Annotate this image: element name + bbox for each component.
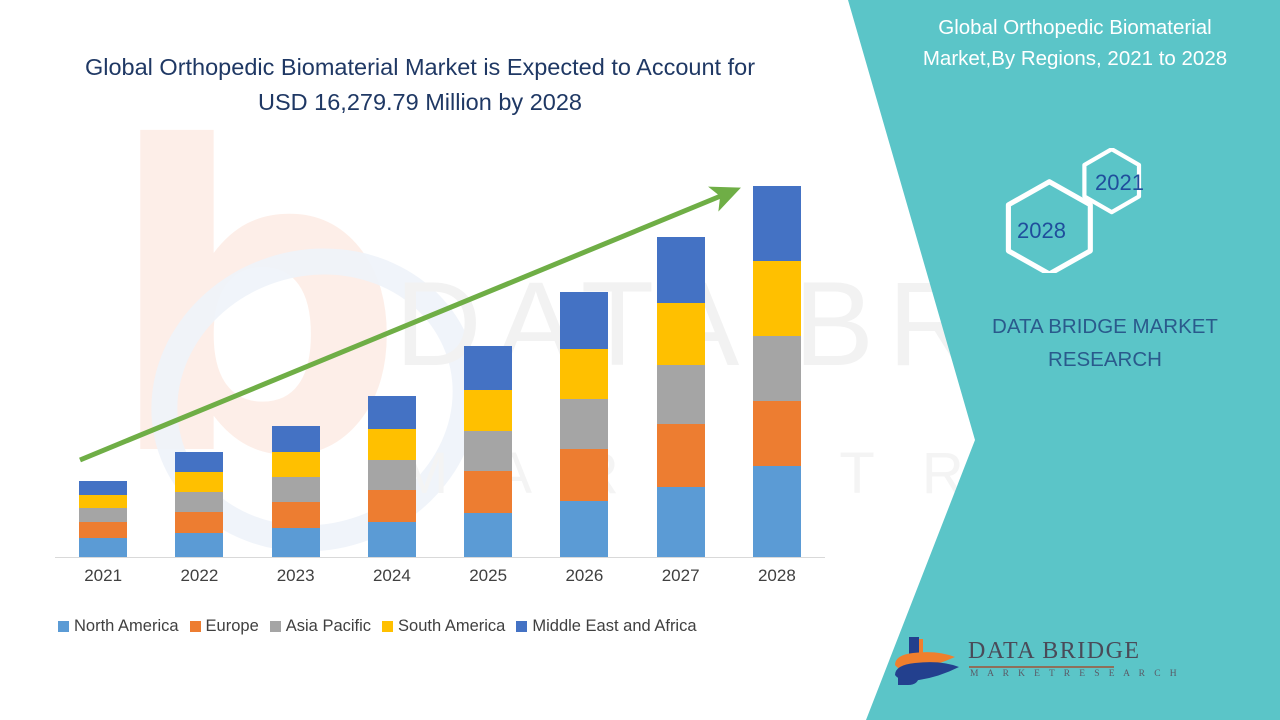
bar-segment-europe (657, 424, 705, 487)
x-label-2025: 2025 (448, 566, 528, 586)
bar-segment-asia-pacific (753, 336, 801, 401)
bar-segment-middle-east-and-africa (175, 452, 223, 472)
x-label-2024: 2024 (352, 566, 432, 586)
bar-segment-north-america (560, 501, 608, 557)
bar-2027[interactable] (657, 237, 705, 557)
bar-segment-south-america (79, 495, 127, 508)
bar-segment-asia-pacific (272, 477, 320, 502)
bar-segment-south-america (657, 303, 705, 365)
bar-segment-north-america (657, 487, 705, 557)
x-axis-labels: 20212022202320242025202620272028 (55, 566, 825, 596)
bar-segment-south-america (272, 452, 320, 477)
bar-segment-middle-east-and-africa (368, 396, 416, 429)
bar-segment-middle-east-and-africa (657, 237, 705, 303)
bar-segment-north-america (79, 538, 127, 557)
x-label-2023: 2023 (256, 566, 336, 586)
bar-segment-asia-pacific (175, 492, 223, 512)
legend-item-europe[interactable]: Europe (190, 617, 259, 636)
bar-segment-asia-pacific (464, 431, 512, 471)
legend-label: North America (74, 617, 179, 636)
x-label-2028: 2028 (737, 566, 817, 586)
bar-segment-europe (753, 401, 801, 466)
legend-label: Europe (206, 617, 259, 636)
bar-segment-asia-pacific (368, 460, 416, 490)
chart-legend: North AmericaEuropeAsia PacificSouth Ame… (58, 617, 848, 636)
logo-sub-text: M A R K E T R E S E A R C H (970, 669, 1180, 679)
legend-swatch-icon (190, 621, 201, 632)
bar-segment-europe (79, 522, 127, 538)
bar-segment-middle-east-and-africa (753, 186, 801, 261)
x-label-2027: 2027 (641, 566, 721, 586)
bar-segment-north-america (753, 466, 801, 557)
bar-segment-middle-east-and-africa (464, 346, 512, 390)
x-label-2026: 2026 (544, 566, 624, 586)
bar-segment-asia-pacific (560, 399, 608, 449)
bar-group (55, 160, 825, 557)
bar-segment-north-america (175, 533, 223, 557)
legend-swatch-icon (516, 621, 527, 632)
bar-segment-middle-east-and-africa (79, 481, 127, 495)
x-label-2021: 2021 (63, 566, 143, 586)
bar-2024[interactable] (368, 396, 416, 557)
slide-canvas: b DATA BRIDGE M A R K E T R E S E A R C … (0, 0, 1280, 720)
right-panel-brand: DATA BRIDGE MARKET RESEARCH (960, 310, 1250, 376)
right-panel-title: Global Orthopedic Biomaterial Market,By … (890, 12, 1260, 74)
legend-label: South America (398, 617, 505, 636)
legend-swatch-icon (382, 621, 393, 632)
bar-segment-north-america (464, 513, 512, 557)
x-axis-line (55, 557, 825, 558)
hexagon-2028-label: 2028 (1017, 218, 1066, 244)
legend-item-asia-pacific[interactable]: Asia Pacific (270, 617, 371, 636)
bar-segment-asia-pacific (657, 365, 705, 424)
bar-2025[interactable] (464, 346, 512, 557)
bar-segment-europe (560, 449, 608, 501)
bar-segment-north-america (272, 528, 320, 557)
logo-divider (969, 666, 1114, 668)
legend-label: Middle East and Africa (532, 617, 696, 636)
bar-segment-middle-east-and-africa (560, 292, 608, 349)
legend-swatch-icon (58, 621, 69, 632)
chart-title: Global Orthopedic Biomaterial Market is … (60, 50, 780, 120)
hexagon-outlines (975, 148, 1175, 273)
hexagon-group: 2028 2021 (975, 148, 1175, 273)
bar-segment-north-america (368, 522, 416, 557)
bar-segment-europe (368, 490, 416, 522)
logo-main-text: DATA BRIDGE (968, 638, 1141, 665)
bar-segment-south-america (368, 429, 416, 460)
hexagon-2021-label: 2021 (1095, 170, 1144, 196)
bar-2026[interactable] (560, 292, 608, 557)
bar-segment-europe (175, 512, 223, 533)
bar-segment-south-america (753, 261, 801, 336)
x-label-2022: 2022 (159, 566, 239, 586)
logo-mark-icon (893, 635, 963, 695)
right-panel-title-text: Global Orthopedic Biomaterial Market,By … (923, 16, 1227, 70)
legend-item-middle-east-and-africa[interactable]: Middle East and Africa (516, 617, 696, 636)
bar-segment-south-america (175, 472, 223, 492)
bar-segment-south-america (560, 349, 608, 399)
bar-segment-europe (272, 502, 320, 528)
bar-2028[interactable] (753, 186, 801, 557)
bar-segment-europe (464, 471, 512, 513)
bar-segment-south-america (464, 390, 512, 431)
legend-label: Asia Pacific (286, 617, 371, 636)
legend-item-north-america[interactable]: North America (58, 617, 179, 636)
bar-2022[interactable] (175, 452, 223, 557)
bar-segment-middle-east-and-africa (272, 426, 320, 452)
bar-2023[interactable] (272, 426, 320, 557)
legend-item-south-america[interactable]: South America (382, 617, 505, 636)
bar-2021[interactable] (79, 481, 127, 557)
bar-segment-asia-pacific (79, 508, 127, 522)
data-bridge-logo: DATA BRIDGE M A R K E T R E S E A R C H (893, 635, 1123, 697)
legend-swatch-icon (270, 621, 281, 632)
